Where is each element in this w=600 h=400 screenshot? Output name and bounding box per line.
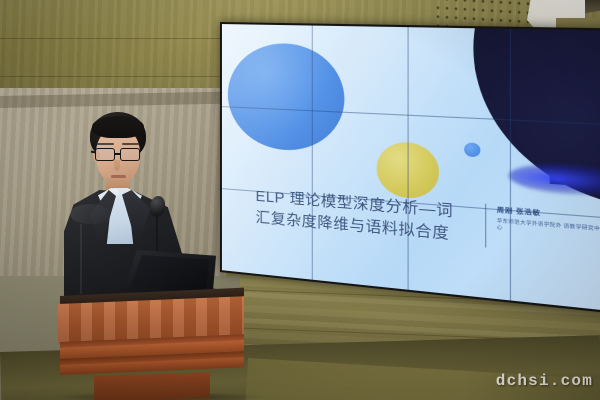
slide-blue-circle-shape [228, 42, 345, 153]
eyeglass-lens [120, 148, 140, 161]
eyeglass-lens [95, 148, 115, 161]
slide-blue-glow-highlight [509, 161, 600, 198]
eyeglass-bridge [115, 153, 121, 155]
jacket-fold [80, 224, 82, 294]
panel-seam-vertical [408, 27, 409, 290]
laptop-screen [131, 255, 209, 293]
photo-scene: ELP 理论模型深度分析—词 汇复杂度降维与语料拟合度 周刚 张浩敏 华东师范大… [0, 0, 600, 400]
panel-seam-vertical [510, 29, 511, 301]
slide-text-divider [485, 204, 486, 248]
podium-base [94, 372, 210, 400]
hair-fringe [92, 116, 144, 138]
watermark: dchsi.com [496, 372, 593, 390]
slide-small-blue-dot-shape [464, 142, 480, 157]
nose [114, 160, 120, 171]
eyeglass-temple [91, 151, 96, 153]
panel-seam-vertical [312, 26, 313, 280]
video-wall-display[interactable]: ELP 理论模型深度分析—词 汇复杂度降维与语料拟合度 周刚 张浩敏 华东师范大… [220, 22, 600, 314]
shoulder-highlight [70, 204, 110, 224]
wooden-podium [58, 296, 246, 400]
video-wall-screen: ELP 理论模型深度分析—词 汇复杂度降维与语料拟合度 周刚 张浩敏 华东师范大… [222, 24, 600, 312]
